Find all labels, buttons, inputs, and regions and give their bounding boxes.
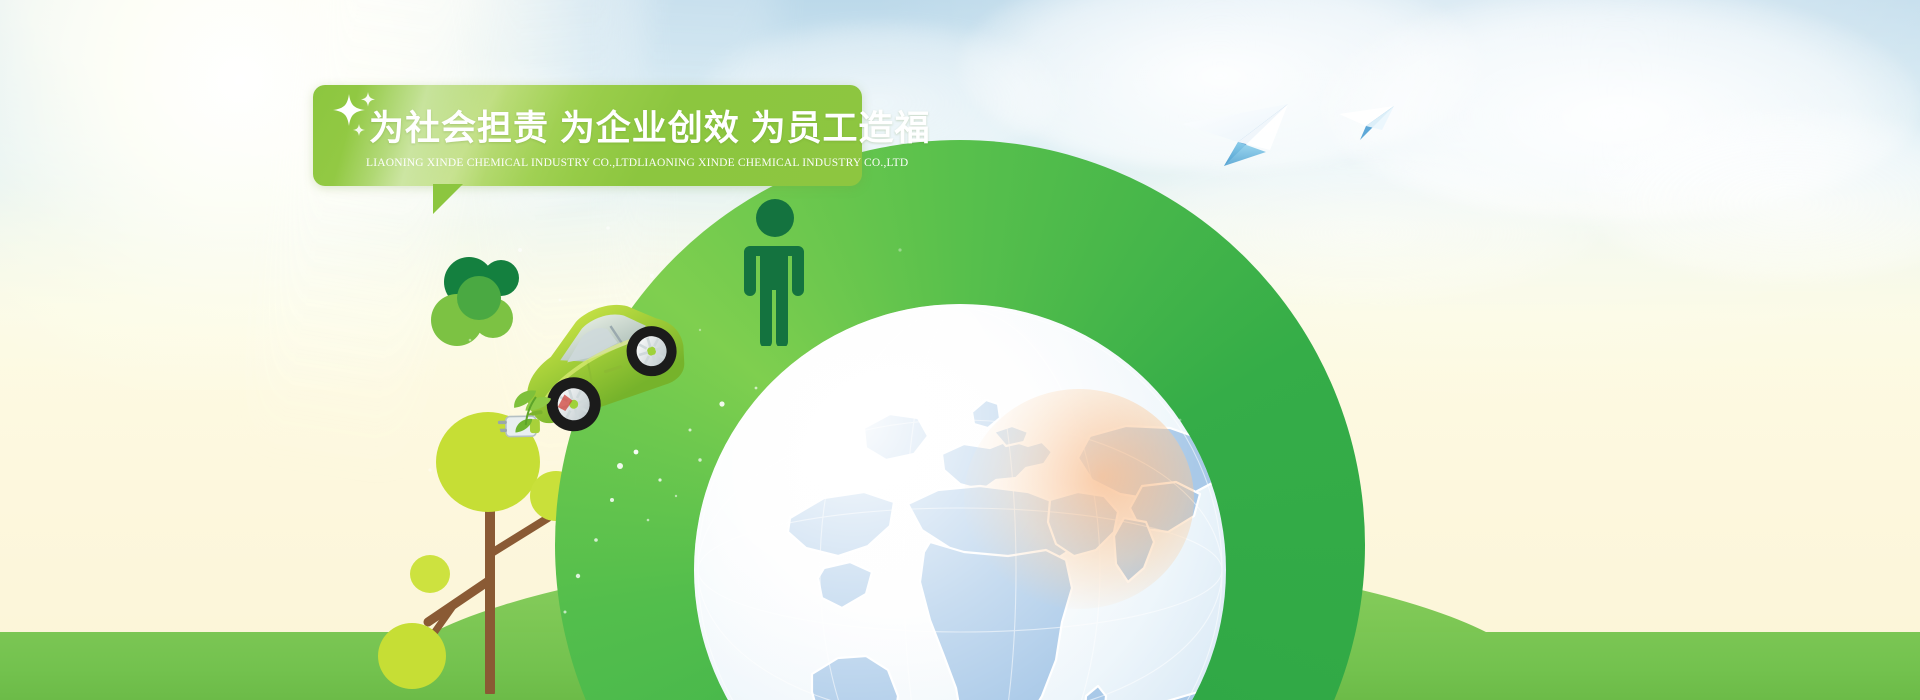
banner-subline: LIAONING XINDE CHEMICAL INDUSTRY CO.,LTD… — [366, 157, 908, 169]
slogan-banner: 为社会担责 为企业创效 为员工造福 LIAONING XINDE CHEMICA… — [313, 85, 862, 186]
banner-stage: 为社会担责 为企业创效 为员工造福 LIAONING XINDE CHEMICA… — [0, 0, 1920, 700]
banner-tail — [433, 184, 463, 214]
globe-sphere — [694, 304, 1226, 700]
paper-plane-small-icon — [1338, 104, 1398, 142]
paper-plane-large-icon — [1180, 98, 1300, 168]
banner-headline: 为社会担责 为企业创效 为员工造福 — [369, 107, 930, 151]
standing-person-icon — [740, 198, 810, 346]
earth-globe — [640, 250, 1280, 700]
